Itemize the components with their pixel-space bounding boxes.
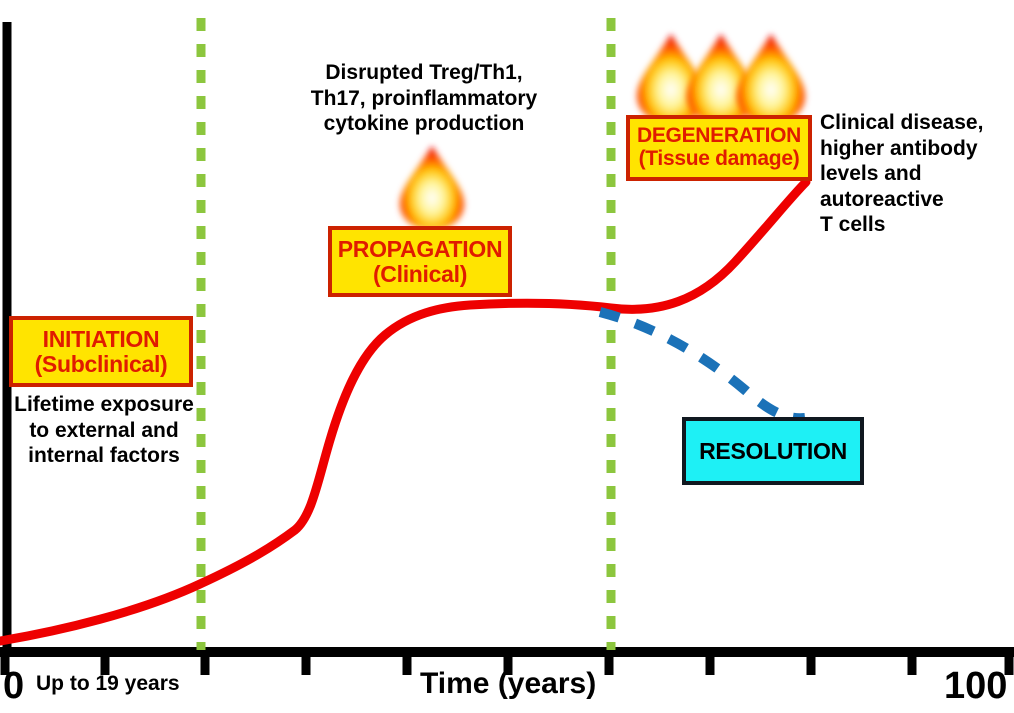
propagation-title: PROPAGATION (338, 237, 503, 262)
resolution-curve (600, 312, 805, 418)
x-axis-end-label: 100 (944, 665, 1007, 708)
subclinical-window-label: Up to 19 years (36, 672, 180, 696)
annotation-disrupted-cytokines: Disrupted Treg/Th1, Th17, proinflammator… (296, 60, 552, 137)
degeneration-subtitle: (Tissue damage) (639, 148, 800, 171)
figure-canvas: INITIATION (Subclinical) PROPAGATION (Cl… (0, 0, 1014, 713)
initiation-title: INITIATION (43, 327, 160, 352)
stage-box-resolution: RESOLUTION (682, 417, 864, 485)
stage-box-propagation: PROPAGATION (Clinical) (328, 226, 512, 297)
stage-box-initiation: INITIATION (Subclinical) (9, 316, 193, 387)
degeneration-title: DEGENERATION (637, 125, 801, 148)
flame-icon-degeneration-3 (737, 34, 805, 124)
annotation-lifetime-exposure: Lifetime exposure to external and intern… (6, 392, 202, 469)
propagation-subtitle: (Clinical) (373, 262, 467, 287)
annotation-clinical-disease: Clinical disease, higher antibody levels… (820, 110, 1010, 238)
flame-icon-propagation (400, 146, 464, 230)
initiation-subtitle: (Subclinical) (35, 352, 168, 377)
stage-box-degeneration: DEGENERATION (Tissue damage) (626, 115, 812, 181)
resolution-title: RESOLUTION (699, 438, 847, 465)
x-axis-start-label: 0 (3, 665, 24, 708)
x-axis-title: Time (years) (420, 667, 596, 701)
